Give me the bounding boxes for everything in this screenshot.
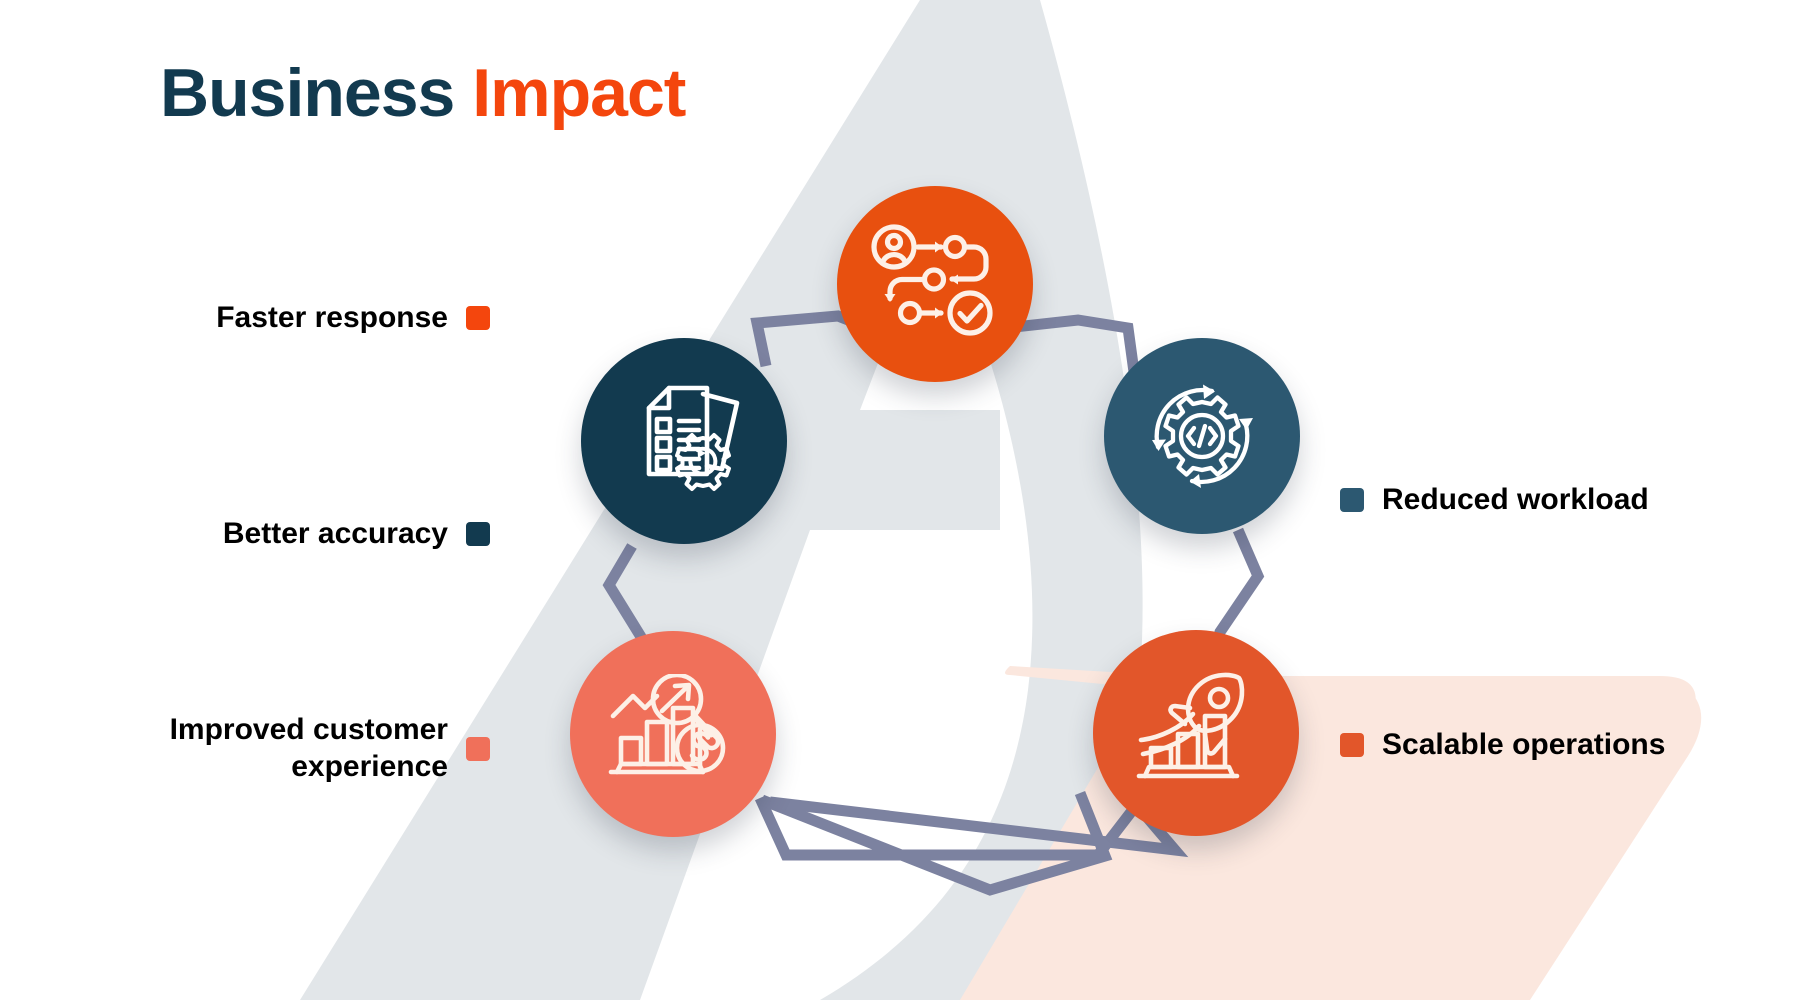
rocket-growth-chart-icon: [1133, 672, 1259, 794]
legend-item-faster-response[interactable]: Faster response: [190, 300, 490, 337]
legend-label-improved-customer-experience: Improved customer experience: [170, 712, 448, 785]
gear-code-cycle-icon: [1140, 374, 1264, 498]
legend-item-improved-customer-experience[interactable]: Improved customer experience: [120, 712, 490, 785]
node-automation[interactable]: [1104, 338, 1300, 534]
legend-swatch-improved-customer-experience: [466, 737, 490, 761]
node-growth[interactable]: [1093, 630, 1299, 836]
business-impact-slide: Business Impact Faster response Better a…: [0, 0, 1800, 1000]
node-workflow[interactable]: [837, 186, 1033, 382]
legend-swatch-reduced-workload: [1340, 488, 1364, 512]
page-title: Business Impact: [160, 58, 685, 129]
legend-swatch-faster-response: [466, 306, 490, 330]
page-title-primary: Business: [160, 55, 454, 131]
connector-analytics-growth-cross: [770, 788, 1175, 850]
node-documents[interactable]: [581, 338, 787, 544]
node-analytics[interactable]: [570, 631, 776, 837]
page-title-accent: Impact: [472, 55, 685, 131]
legend-swatch-scalable-operations: [1340, 733, 1364, 757]
legend-item-reduced-workload[interactable]: Reduced workload: [1340, 482, 1649, 519]
bar-chart-magnifier-dollar-icon: [607, 674, 739, 794]
workflow-process-icon: [871, 224, 999, 344]
legend-item-better-accuracy[interactable]: Better accuracy: [190, 516, 490, 553]
legend-item-scalable-operations[interactable]: Scalable operations: [1340, 727, 1665, 764]
legend-label-line-2: experience: [170, 749, 448, 786]
legend-label-faster-response: Faster response: [216, 300, 448, 337]
document-checklist-gear-icon: [619, 378, 749, 504]
legend-label-reduced-workload: Reduced workload: [1382, 482, 1649, 519]
legend-label-scalable-operations: Scalable operations: [1382, 727, 1665, 764]
legend-swatch-better-accuracy: [466, 522, 490, 546]
legend-label-line-1: Improved customer: [170, 712, 448, 749]
legend-label-better-accuracy: Better accuracy: [223, 516, 448, 553]
